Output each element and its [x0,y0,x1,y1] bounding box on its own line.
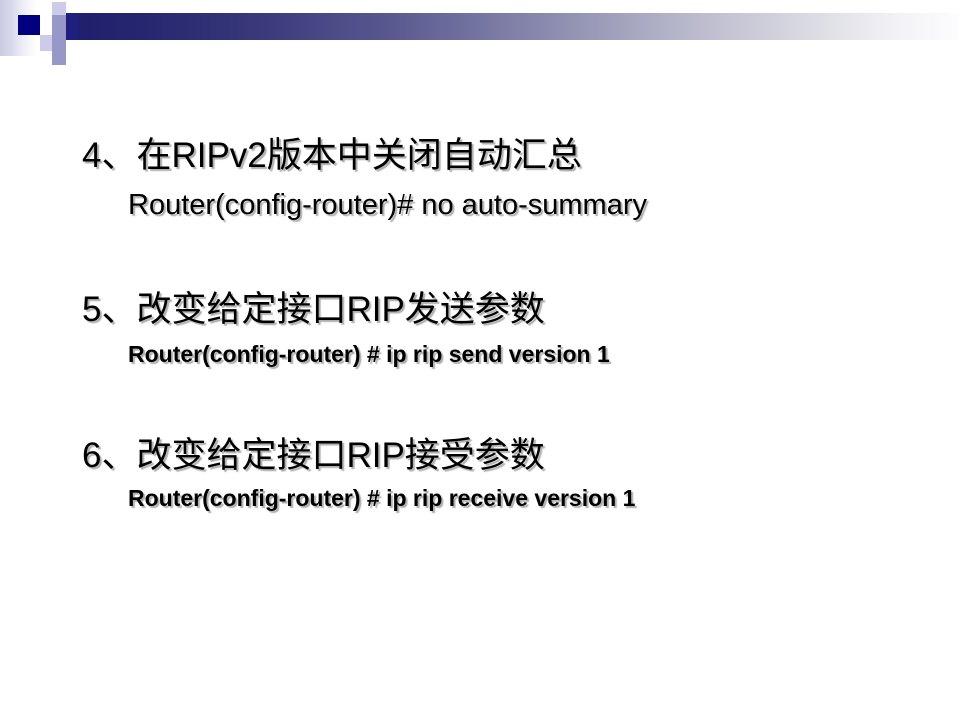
item-6-command: Router(config-router) # ip rip receive v… [128,485,635,512]
slide-body: 4、在RIPv2版本中关闭自动汇总 Router(config-router)#… [0,0,960,720]
item-5-command: Router(config-router) # ip rip send vers… [128,341,610,368]
item-4-heading: 4、在RIPv2版本中关闭自动汇总 [82,127,582,178]
item-5-heading: 5、改变给定接口RIP发送参数 [82,281,545,332]
item-4-command: Router(config-router)# no auto-summary [128,189,647,222]
item-6-heading: 6、改变给定接口RIP接受参数 [82,427,545,478]
